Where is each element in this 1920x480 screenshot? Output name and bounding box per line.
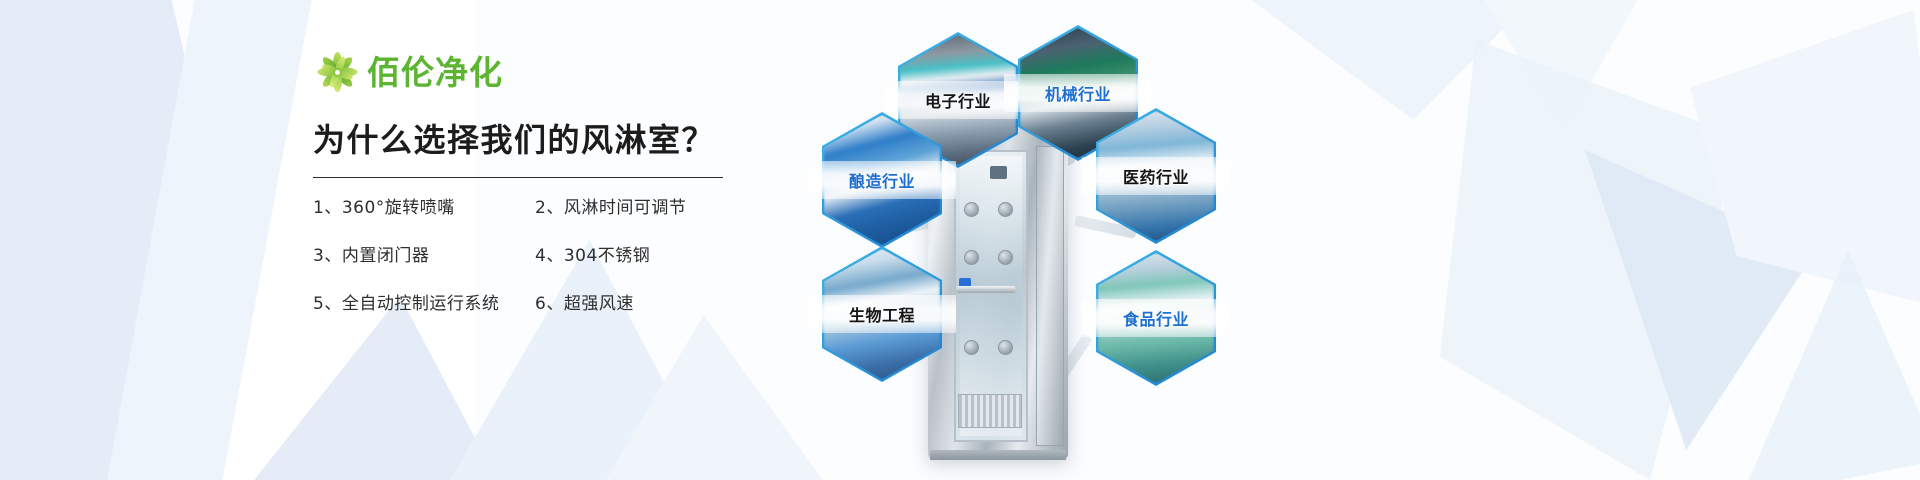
feature-item-5: 5、全自动控制运行系统 (313, 296, 535, 313)
nozzle-icon (964, 250, 979, 265)
nozzle-icon (998, 340, 1013, 355)
unit-side-panel (1036, 146, 1064, 446)
industry-badge-food[interactable]: 食品行业 (1096, 250, 1216, 386)
feature-item-6: 6、超强风速 (535, 296, 743, 313)
industry-label-brewing: 酿造行业 (808, 161, 956, 199)
brand-lockup: 佰伦净化 (313, 46, 743, 98)
feature-item-2: 2、风淋时间可调节 (535, 200, 743, 217)
feature-item-3: 3、内置闭门器 (313, 248, 535, 265)
unit-base (930, 450, 1066, 460)
unit-floor-vent (958, 394, 1022, 428)
title-divider (313, 177, 723, 178)
logo-center (333, 68, 342, 77)
industry-badge-pharma[interactable]: 医药行业 (1096, 108, 1216, 244)
industry-label-bio: 生物工程 (808, 295, 956, 333)
promo-banner: 佰伦净化 为什么选择我们的风淋室？ 1、360°旋转喷嘴 2、风淋时间可调节 3… (0, 0, 1920, 480)
industry-label-food: 食品行业 (1082, 299, 1230, 337)
industry-badge-brewing[interactable]: 酿造行业 (822, 112, 942, 248)
nozzle-icon (998, 250, 1013, 265)
green-flower-logo-icon (313, 49, 361, 95)
brand-name: 佰伦净化 (367, 56, 503, 89)
unit-door-handle[interactable] (956, 286, 1016, 293)
industry-badge-bio[interactable]: 生物工程 (822, 246, 942, 382)
banner-copy-column: 佰伦净化 为什么选择我们的风淋室？ 1、360°旋转喷嘴 2、风淋时间可调节 3… (313, 46, 743, 313)
feature-item-4: 4、304不锈钢 (535, 248, 743, 265)
industry-label-machinery: 机械行业 (1004, 74, 1152, 112)
feature-item-1: 1、360°旋转喷嘴 (313, 200, 535, 217)
nozzle-icon (964, 340, 979, 355)
industry-label-pharma: 医药行业 (1082, 157, 1230, 195)
industry-hexagon-cluster: 电子行业 机械行业 酿造行业 医药行业 (800, 0, 1440, 480)
feature-list: 1、360°旋转喷嘴 2、风淋时间可调节 3、内置闭门器 4、304不锈钢 5、… (313, 200, 743, 313)
nozzle-icon (998, 202, 1013, 217)
nozzle-icon (964, 202, 979, 217)
page-title: 为什么选择我们的风淋室？ (313, 115, 743, 161)
